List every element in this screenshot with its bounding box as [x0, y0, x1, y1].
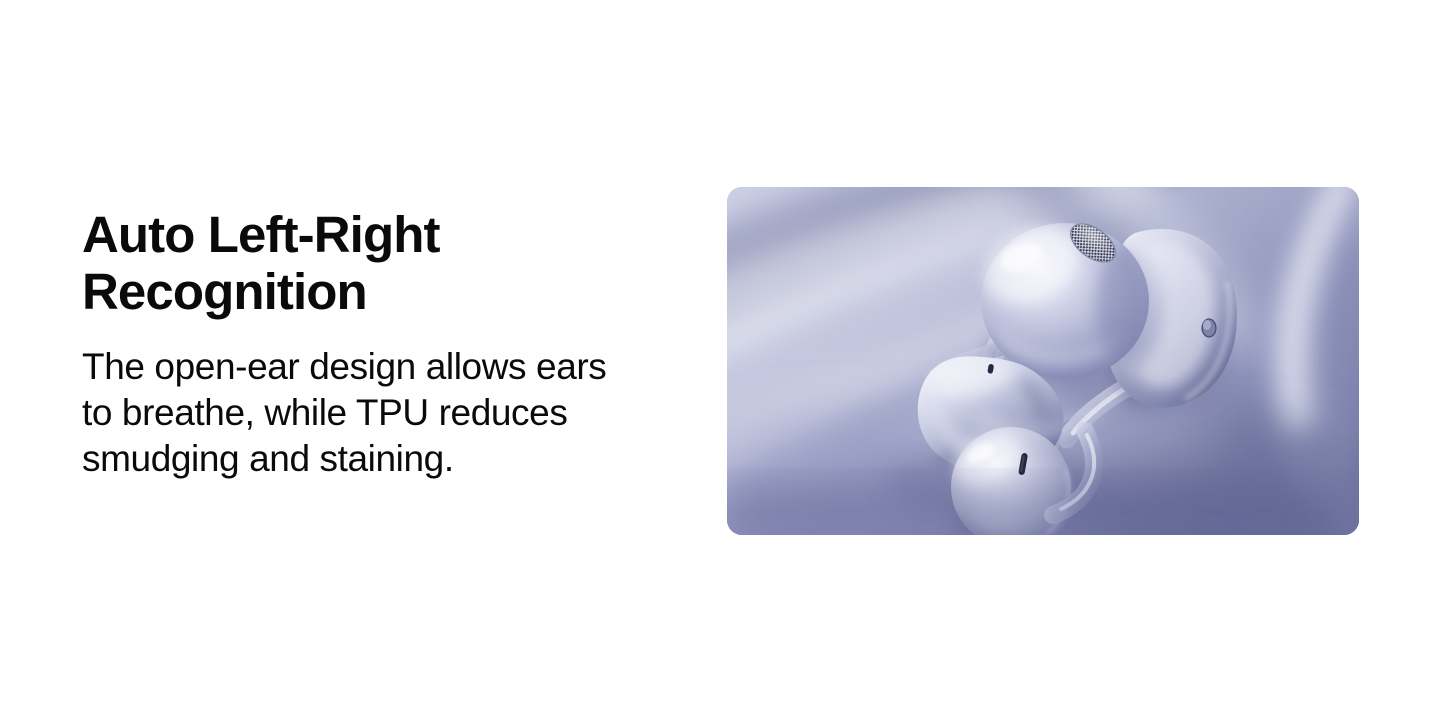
product-image-card	[727, 187, 1359, 535]
feature-heading: Auto Left-Right Recognition	[82, 206, 662, 320]
vignette	[727, 487, 1359, 535]
feature-copy-block: Auto Left-Right Recognition The open-ear…	[82, 206, 662, 482]
mic-hole-right	[1201, 318, 1216, 337]
earbuds-product-illustration	[727, 187, 1359, 535]
feature-section: Auto Left-Right Recognition The open-ear…	[0, 0, 1445, 723]
feature-description: The open-ear design allows ears to breat…	[82, 344, 642, 482]
